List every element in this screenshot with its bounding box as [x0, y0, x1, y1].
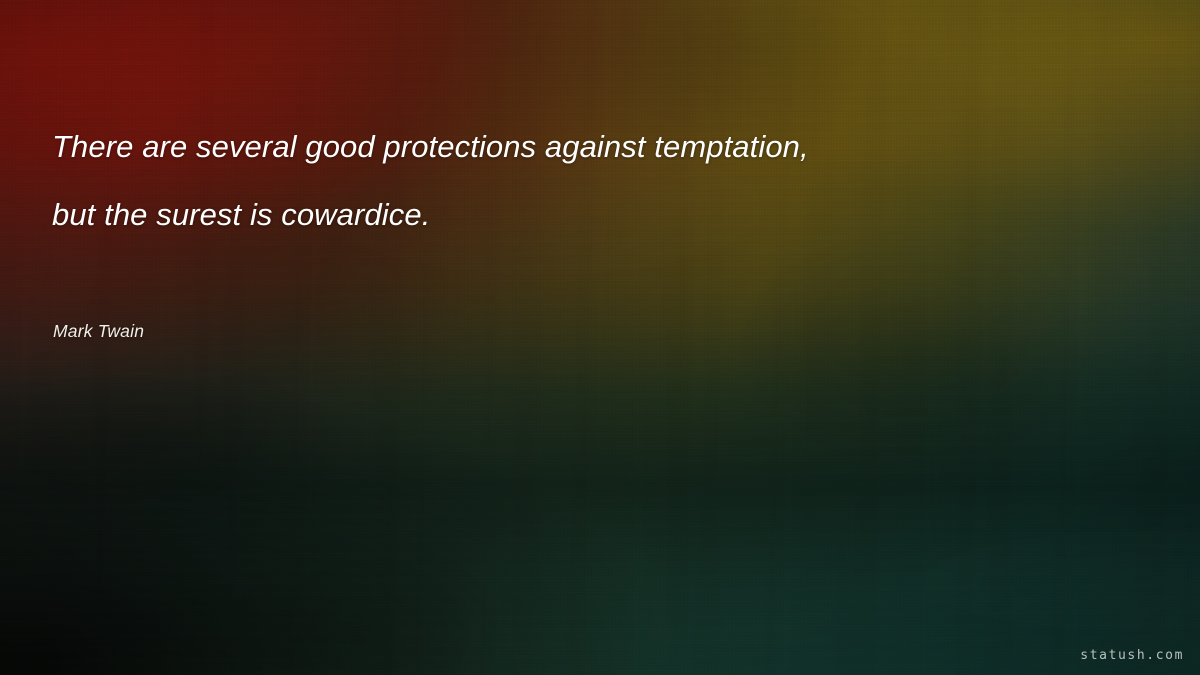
quote-line-2: but the surest is cowardice. [52, 181, 1072, 249]
quote-text-block: There are several good protections again… [52, 113, 1072, 249]
watermark-statush: statush.com [1080, 648, 1184, 663]
content-layer: There are several good protections again… [0, 0, 1200, 675]
quote-card: There are several good protections again… [0, 0, 1200, 675]
quote-author: Mark Twain [53, 321, 144, 342]
quote-line-1: There are several good protections again… [52, 113, 1072, 181]
